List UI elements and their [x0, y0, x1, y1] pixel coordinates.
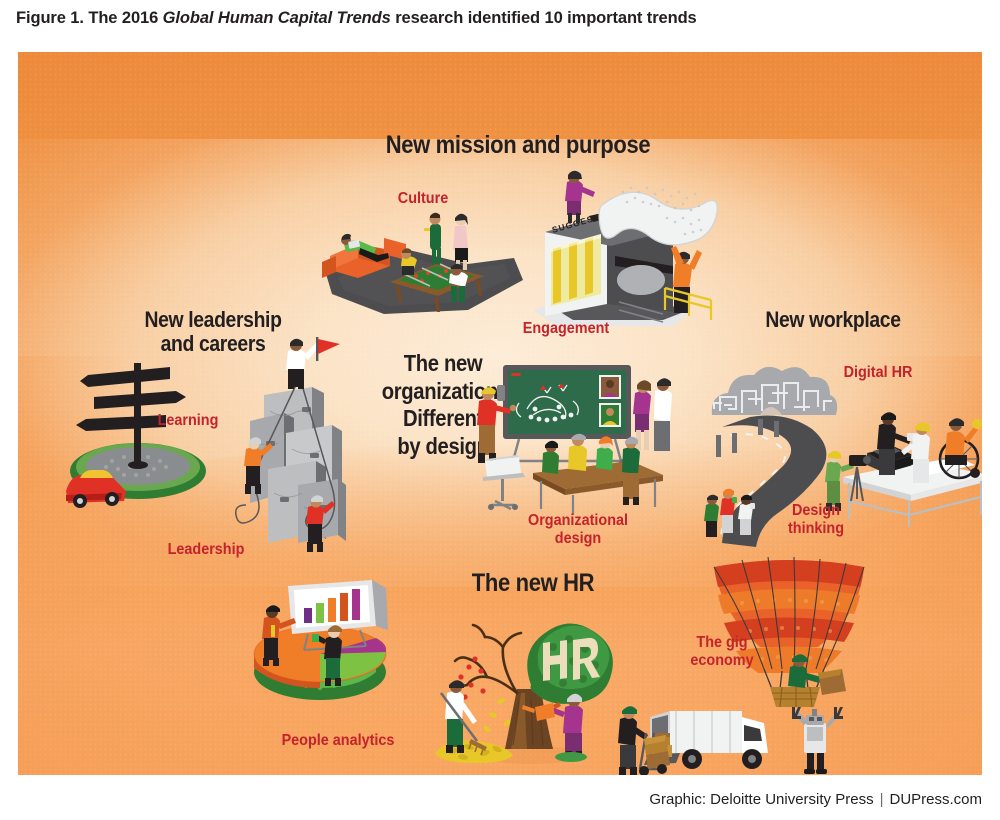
- trend-label-organizational-design: Organizational design: [506, 512, 650, 548]
- hr-tree-illustration: [413, 597, 633, 772]
- whiteboard-team-meeting-illustration: [473, 357, 673, 522]
- trend-label-design-thinking: Design thinking: [762, 502, 870, 538]
- credit-site[interactable]: DUPress.com: [889, 791, 982, 808]
- climbing-wall-illustration: [236, 337, 366, 562]
- trend-label-engagement: Engagement: [503, 320, 629, 338]
- figure-title-tail: research identified 10 important trends: [391, 9, 697, 27]
- cluster-heading-the-new-hr: The new HR: [449, 570, 616, 597]
- trend-label-digital-hr: Digital HR: [824, 364, 932, 382]
- suggestions-box-machine-illustration: SUGGESTIONS: [523, 170, 723, 330]
- credit-separator: |: [880, 791, 884, 808]
- cluster-heading-new-mission-and-purpose: New mission and purpose: [342, 132, 694, 159]
- hot-air-balloon-illustration: [706, 557, 876, 707]
- credit-source: Graphic: Deloitte University Press: [649, 791, 873, 808]
- signpost-roundabout-car-illustration: [58, 345, 238, 525]
- trend-label-the-gig-economy: The gig economy: [669, 634, 775, 670]
- people-analytics-pie-chart-illustration: [248, 580, 398, 725]
- cluster-heading-new-workplace: New workplace: [732, 308, 934, 332]
- lounge-sofa-foosball-illustration: [318, 202, 528, 327]
- delivery-truck-robot-illustration: [618, 697, 868, 775]
- trend-label-people-analytics: People analytics: [266, 732, 410, 750]
- figure-title-italic: Global Human Capital Trends: [163, 9, 391, 27]
- trend-label-leadership: Leadership: [152, 541, 260, 559]
- graphic-credit: Graphic: Deloitte University Press|DUPre…: [649, 791, 982, 808]
- trend-label-culture: Culture: [365, 190, 482, 208]
- infographic-panel: New mission and purpose: [18, 52, 982, 775]
- trend-label-learning: Learning: [143, 412, 233, 430]
- figure-label: Figure 1. The 2016: [16, 9, 163, 27]
- figure-title: Figure 1. The 2016 Global Human Capital …: [16, 9, 697, 28]
